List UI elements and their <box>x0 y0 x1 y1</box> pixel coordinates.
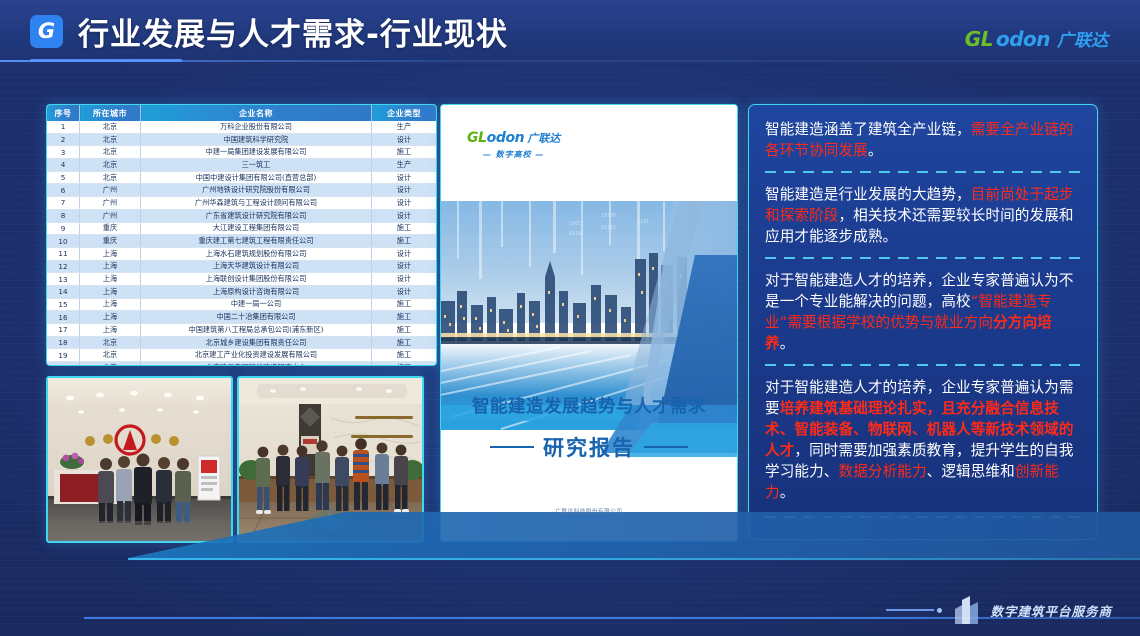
table-row: 15上海中建一局一公司施工 <box>47 298 436 311</box>
cell-no: 11 <box>47 247 80 260</box>
paragraph-separator <box>765 253 1081 263</box>
cover-rule-left <box>490 446 534 448</box>
cover-logo: GLodon 广联达 — 数字高校 — <box>467 131 560 160</box>
cell-city: 北京 <box>80 121 141 133</box>
cell-name: 广州华森建筑与工程设计顾问有限公司 <box>141 197 372 210</box>
cover-title-block: 智能建造发展趋势与人才需求 研究报告 <box>441 393 737 462</box>
cell-no: 13 <box>47 273 80 286</box>
table-row: 20北京北京建工集团智能建造研究中心施工 <box>47 362 436 366</box>
column-header-no: 序号 <box>47 105 80 121</box>
cell-type: 设计 <box>372 247 437 260</box>
cell-no: 16 <box>47 311 80 324</box>
cell-type: 施工 <box>372 349 437 362</box>
table-row: 16上海中国二十冶集团有限公司施工 <box>47 311 436 324</box>
table-row: 10重庆重庆建工第七建筑工程有限责任公司施工 <box>47 235 436 248</box>
insight-paragraph: 对于智能建造人才的培养，企业专家普遍认为需要培养建筑基础理论扎实，且充分融合信息… <box>765 377 1081 503</box>
cover-logo-part2: odon <box>487 131 525 145</box>
cell-name: 上海水石建筑规划股份有限公司 <box>141 247 372 260</box>
cell-city: 北京 <box>80 349 141 362</box>
cell-name: 上海原构设计咨询有限公司 <box>141 285 372 298</box>
table-row: 13上海上海联创设计集团股份有限公司设计 <box>47 273 436 286</box>
cell-type: 生产 <box>372 159 437 172</box>
cell-name: 北京城乡建设集团有限责任公司 <box>141 336 372 349</box>
cover-logo-part1: GL <box>467 131 487 145</box>
cell-no: 4 <box>47 159 80 172</box>
table-header-row: 序号 所在城市 企业名称 企业类型 <box>47 105 436 121</box>
text-segment: 智能建造是行业发展的大趋势， <box>765 186 971 203</box>
insight-paragraph: 智能建造是行业发展的大趋势，目前尚处于起步和探索阶段，相关技术还需要较长时间的发… <box>765 184 1081 247</box>
cell-city: 重庆 <box>80 235 141 248</box>
cover-rule-right <box>644 446 688 448</box>
cell-city: 上海 <box>80 273 141 286</box>
cell-type: 生产 <box>372 121 437 133</box>
cell-type: 施工 <box>372 311 437 324</box>
cell-no: 7 <box>47 197 80 210</box>
cell-city: 北京 <box>80 133 141 146</box>
cover-logo-cn: 广联达 <box>527 133 560 144</box>
column-header-city: 所在城市 <box>80 105 141 121</box>
cell-name: 三一筑工 <box>141 159 372 172</box>
table-row: 17上海中国建筑第八工程局总承包公司(浦东新区)施工 <box>47 324 436 337</box>
cell-city: 上海 <box>80 311 141 324</box>
svg-text:1001: 1001 <box>569 221 581 227</box>
brand-logo-part1: GL <box>965 29 993 49</box>
brand-logo: GLodon 广联达 <box>965 29 1108 50</box>
cell-name: 广州地铁设计研究院股份有限公司 <box>141 184 372 197</box>
brand-logo-cn: 广联达 <box>1057 33 1108 50</box>
bottom-band-edge <box>0 558 1140 560</box>
svg-text:01101: 01101 <box>601 225 616 231</box>
cell-type: 施工 <box>372 298 437 311</box>
cell-name: 重庆建工第七建筑工程有限责任公司 <box>141 235 372 248</box>
slide-root: G 行业发展与人才需求-行业现状 GLodon 广联达 序号 所在城市 企业名称… <box>0 0 1140 636</box>
table-row: 19北京北京建工产业化投资建设发展有限公司施工 <box>47 349 436 362</box>
table-row: 4北京三一筑工生产 <box>47 159 436 172</box>
paragraph-separator <box>765 360 1081 370</box>
insights-panel-body: 智能建造涵盖了建筑全产业链，需要全产业链的各环节协同发展。智能建造是行业发展的大… <box>765 119 1081 522</box>
cell-city: 广州 <box>80 184 141 197</box>
table-row: 18北京北京城乡建设集团有限责任公司施工 <box>47 336 436 349</box>
cell-city: 北京 <box>80 159 141 172</box>
insight-paragraph: 智能建造涵盖了建筑全产业链，需要全产业链的各环节协同发展。 <box>765 119 1081 161</box>
cell-name: 上海联创设计集团股份有限公司 <box>141 273 372 286</box>
cell-type: 设计 <box>372 285 437 298</box>
table-row: 11上海上海水石建筑规划股份有限公司设计 <box>47 247 436 260</box>
cell-name: 中国二十冶集团有限公司 <box>141 311 372 324</box>
cell-city: 广州 <box>80 197 141 210</box>
company-table-card: 序号 所在城市 企业名称 企业类型 1北京万科企业股份有限公司生产2北京中国建筑… <box>46 104 437 366</box>
column-header-type: 企业类型 <box>372 105 437 121</box>
company-table: 序号 所在城市 企业名称 企业类型 1北京万科企业股份有限公司生产2北京中国建筑… <box>47 105 436 366</box>
cell-name: 大江建设工程集团有限公司 <box>141 222 372 235</box>
cell-city: 北京 <box>80 336 141 349</box>
footer-brand: 数字建筑平台服务商 <box>886 596 1112 624</box>
header-underline-accent <box>30 59 182 62</box>
cell-no: 9 <box>47 222 80 235</box>
cell-no: 2 <box>47 133 80 146</box>
cell-type: 设计 <box>372 184 437 197</box>
cell-name: 广东省建筑设计研究院有限公司 <box>141 209 372 222</box>
slide-header: G 行业发展与人才需求-行业现状 GLodon 广联达 <box>0 0 1140 62</box>
cell-type: 设计 <box>372 209 437 222</box>
cell-no: 6 <box>47 184 80 197</box>
cell-name: 中国中建设计集团有限公司(直营总部) <box>141 171 372 184</box>
svg-text:0110: 0110 <box>569 231 581 237</box>
cell-name: 万科企业股份有限公司 <box>141 121 372 133</box>
cell-type: 设计 <box>372 171 437 184</box>
cell-name: 北京建工产业化投资建设发展有限公司 <box>141 349 372 362</box>
cell-city: 上海 <box>80 298 141 311</box>
footer-connector-icon <box>886 608 942 613</box>
cell-type: 施工 <box>372 324 437 337</box>
svg-text:1101: 1101 <box>637 219 649 225</box>
text-segment: 智能建造涵盖了建筑全产业链， <box>765 121 971 138</box>
table-row: 12上海上海天华建筑设计有限公司设计 <box>47 260 436 273</box>
column-header-name: 企业名称 <box>141 105 372 121</box>
text-segment: 。 <box>780 335 795 352</box>
cell-no: 15 <box>47 298 80 311</box>
cell-city: 上海 <box>80 260 141 273</box>
cell-type: 设计 <box>372 133 437 146</box>
cell-city: 重庆 <box>80 222 141 235</box>
table-row: 5北京中国中建设计集团有限公司(直营总部)设计 <box>47 171 436 184</box>
cell-name: 中建一局一公司 <box>141 298 372 311</box>
cell-type: 施工 <box>372 222 437 235</box>
cell-no: 1 <box>47 121 80 133</box>
cover-title-line1: 智能建造发展趋势与人才需求 <box>441 393 737 418</box>
cell-no: 10 <box>47 235 80 248</box>
svg-text:10100: 10100 <box>601 213 616 219</box>
text-segment: 。 <box>868 142 883 159</box>
cell-city: 上海 <box>80 247 141 260</box>
insights-panel: 智能建造涵盖了建筑全产业链，需要全产业链的各环节协同发展。智能建造是行业发展的大… <box>748 104 1098 540</box>
cell-city: 北京 <box>80 146 141 159</box>
cell-no: 14 <box>47 285 80 298</box>
insight-paragraph: 对于智能建造人才的培养，企业专家普遍认为不是一个专业能解决的问题，高校“智能建造… <box>765 270 1081 354</box>
cell-no: 19 <box>47 349 80 362</box>
cell-type: 施工 <box>372 146 437 159</box>
table-body: 1北京万科企业股份有限公司生产2北京中国建筑科学研究院设计3北京中建一局集团建设… <box>47 121 436 366</box>
cell-name: 中建一局集团建设发展有限公司 <box>141 146 372 159</box>
cell-city: 上海 <box>80 285 141 298</box>
table-row: 6广州广州地铁设计研究院股份有限公司设计 <box>47 184 436 197</box>
survey-photo-1 <box>46 376 233 543</box>
cell-type: 施工 <box>372 235 437 248</box>
cell-city: 北京 <box>80 362 141 366</box>
cell-type: 施工 <box>372 362 437 366</box>
cell-name: 北京建工集团智能建造研究中心 <box>141 362 372 366</box>
cover-company-name: 广联达科技股份有限公司 <box>441 507 737 515</box>
text-segment: 、逻辑思维和 <box>927 463 1015 480</box>
brand-logo-part2: odon <box>996 29 1050 49</box>
highlight-segment: 数据分析能力 <box>838 463 926 480</box>
cell-no: 17 <box>47 324 80 337</box>
survey-photo-1-image <box>48 378 231 541</box>
table-row: 14上海上海原构设计咨询有限公司设计 <box>47 285 436 298</box>
cell-no: 20 <box>47 362 80 366</box>
cell-name: 中国建筑第八工程局总承包公司(浦东新区) <box>141 324 372 337</box>
text-segment: 。 <box>780 484 795 501</box>
report-cover-card: 10010110 1010001101 1101 <box>440 104 738 542</box>
cell-no: 18 <box>47 336 80 349</box>
cell-type: 设计 <box>372 197 437 210</box>
report-cover-artwork: 10010110 1010001101 1101 <box>441 105 737 541</box>
glodon-logo-icon: G <box>30 15 63 48</box>
cover-title-line2: 研究报告 <box>543 432 635 462</box>
table-row: 3北京中建一局集团建设发展有限公司施工 <box>47 146 436 159</box>
cell-no: 3 <box>47 146 80 159</box>
cover-sublogo: — 数字高校 — <box>467 149 560 160</box>
cell-name: 上海天华建筑设计有限公司 <box>141 260 372 273</box>
page-title: 行业发展与人才需求-行业现状 <box>78 8 508 54</box>
cell-no: 8 <box>47 209 80 222</box>
cell-city: 上海 <box>80 324 141 337</box>
cell-type: 施工 <box>372 336 437 349</box>
table-row: 1北京万科企业股份有限公司生产 <box>47 121 436 133</box>
cell-type: 设计 <box>372 273 437 286</box>
table-row: 2北京中国建筑科学研究院设计 <box>47 133 436 146</box>
cell-no: 5 <box>47 171 80 184</box>
table-row: 7广州广州华森建筑与工程设计顾问有限公司设计 <box>47 197 436 210</box>
cell-city: 广州 <box>80 209 141 222</box>
paragraph-separator <box>765 167 1081 177</box>
footer-slogan: 数字建筑平台服务商 <box>990 601 1112 620</box>
cell-no: 12 <box>47 260 80 273</box>
table-row: 9重庆大江建设工程集团有限公司施工 <box>47 222 436 235</box>
cell-city: 北京 <box>80 171 141 184</box>
cell-name: 中国建筑科学研究院 <box>141 133 372 146</box>
table-row: 8广州广东省建筑设计研究院有限公司设计 <box>47 209 436 222</box>
building-icon <box>949 596 983 624</box>
cell-type: 设计 <box>372 260 437 273</box>
